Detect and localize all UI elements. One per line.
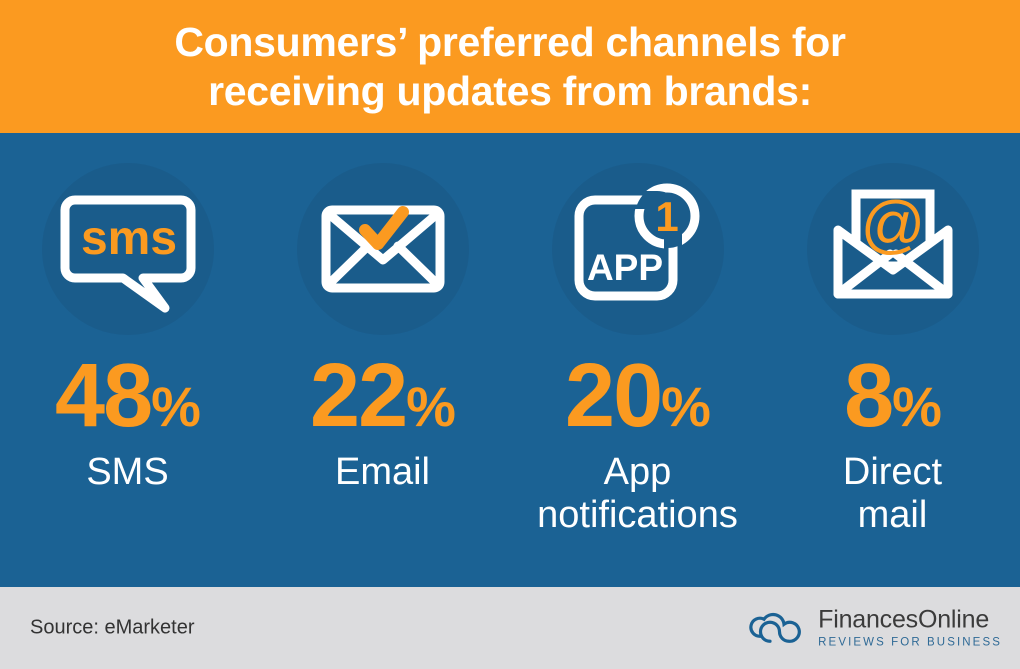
email-envelope-check-icon xyxy=(308,174,458,324)
at-sign-label: @ xyxy=(860,188,925,260)
stat-label-sms: SMS xyxy=(86,451,168,494)
stats-panel: sms 48% SMS xyxy=(0,133,1020,587)
stat-percent-sms: % xyxy=(151,379,200,435)
stat-percent-direct-mail: % xyxy=(892,379,941,435)
email-icon-circle xyxy=(297,163,469,335)
stat-percent-email: % xyxy=(406,379,455,435)
stat-number-app: 20 xyxy=(565,351,661,441)
direct-mail-at-sign-icon: @ xyxy=(818,174,968,324)
channel-column-email: 22% Email xyxy=(255,133,510,587)
channel-column-direct-mail: @ 8% Direct mail xyxy=(765,133,1020,587)
sms-icon-label: sms xyxy=(80,212,176,265)
app-icon-circle: 1 APP xyxy=(552,163,724,335)
stat-label-email: Email xyxy=(335,451,430,494)
logo-name: FinancesOnline xyxy=(818,607,1002,632)
stat-value-sms: 48% xyxy=(55,351,200,441)
infographic-canvas: Consumers’ preferred channels for receiv… xyxy=(0,0,1020,669)
channel-columns: sms 48% SMS xyxy=(0,133,1020,587)
app-icon-label: APP xyxy=(586,247,662,288)
sms-icon-circle: sms xyxy=(42,163,214,335)
channel-column-sms: sms 48% SMS xyxy=(0,133,255,587)
channel-column-app: 1 APP 20% App notifications xyxy=(510,133,765,587)
footer-bar: Source: eMarketer FinancesOnline REVIEWS… xyxy=(0,587,1020,669)
stat-label-direct-mail: Direct mail xyxy=(843,451,942,536)
financesonline-logo: FinancesOnline REVIEWS FOR BUSINESS xyxy=(746,607,1002,649)
stat-number-email: 22 xyxy=(310,351,406,441)
app-notification-badge-icon: 1 APP xyxy=(563,174,713,324)
stat-value-direct-mail: 8% xyxy=(844,351,941,441)
financesonline-cloud-icon xyxy=(746,608,808,648)
stat-label-app: App notifications xyxy=(537,451,738,536)
logo-tagline: REVIEWS FOR BUSINESS xyxy=(818,637,1002,649)
stat-number-sms: 48 xyxy=(55,351,151,441)
stat-value-email: 22% xyxy=(310,351,455,441)
page-title: Consumers’ preferred channels for receiv… xyxy=(144,18,875,115)
stat-value-app: 20% xyxy=(565,351,710,441)
stat-number-direct-mail: 8 xyxy=(844,351,892,441)
stat-percent-app: % xyxy=(661,379,710,435)
logo-wordmark: FinancesOnline REVIEWS FOR BUSINESS xyxy=(818,607,1002,649)
direct-mail-icon-circle: @ xyxy=(807,163,979,335)
sms-speech-bubble-icon: sms xyxy=(53,174,203,324)
app-badge-count: 1 xyxy=(655,193,678,240)
source-attribution: Source: eMarketer xyxy=(30,617,195,640)
header-banner: Consumers’ preferred channels for receiv… xyxy=(0,0,1020,133)
